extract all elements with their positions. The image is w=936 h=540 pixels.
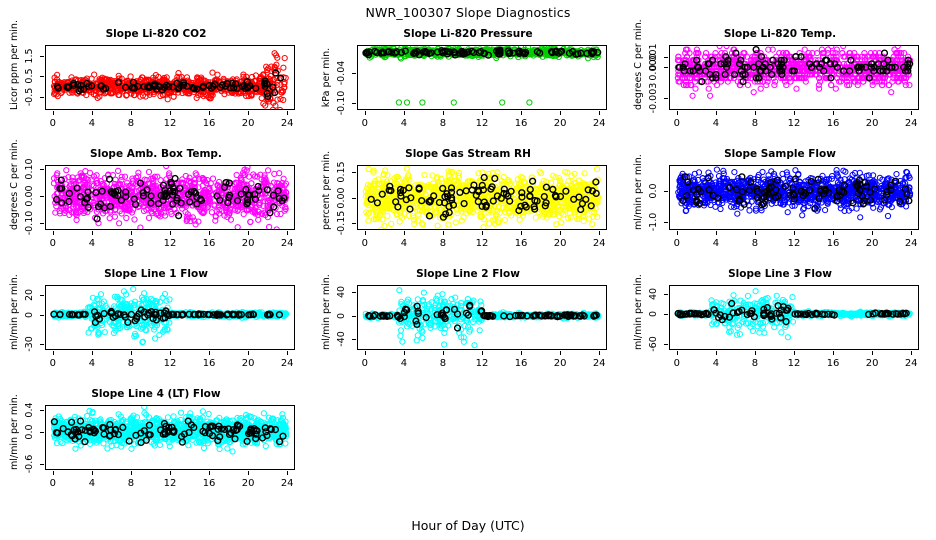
scatter-layer (312, 28, 624, 148)
scatter-layer (0, 388, 312, 508)
scatter-layer (0, 268, 312, 388)
scatter-layer (624, 148, 936, 268)
figure-canvas: NWR_100307 Slope Diagnostics Hour of Day… (0, 0, 936, 540)
panel-2: Slope Li-820 PressurekPa per min.-0.10-0… (312, 28, 624, 148)
panel-3: Slope Li-820 Temp.degrees C per min.-0.0… (624, 28, 936, 148)
panel-7: Slope Line 1 Flowml/min per min.-3002004… (0, 268, 312, 388)
panel-9: Slope Line 3 Flowml/min per min.-6004004… (624, 268, 936, 388)
scatter-layer (624, 28, 936, 148)
figure-title: NWR_100307 Slope Diagnostics (0, 5, 936, 20)
panel-8: Slope Line 2 Flowml/min per min.-4004004… (312, 268, 624, 388)
scatter-layer (0, 148, 312, 268)
panel-6: Slope Sample Flowml/min per min.-1.00.00… (624, 148, 936, 268)
panel-5: Slope Gas Stream RHpercent per min.-0.15… (312, 148, 624, 268)
panel-1: Slope Li-820 CO2Licor ppm per min.-0.50.… (0, 28, 312, 148)
panel-10: Slope Line 4 (LT) Flowml/min per min.-0.… (0, 388, 312, 508)
panel-4: Slope Amb. Box Temp.degrees C per min.-0… (0, 148, 312, 268)
scatter-layer (312, 148, 624, 268)
scatter-layer (624, 268, 936, 388)
figure-xaxis-label: Hour of Day (UTC) (0, 518, 936, 533)
scatter-layer (0, 28, 312, 148)
scatter-layer (312, 268, 624, 388)
